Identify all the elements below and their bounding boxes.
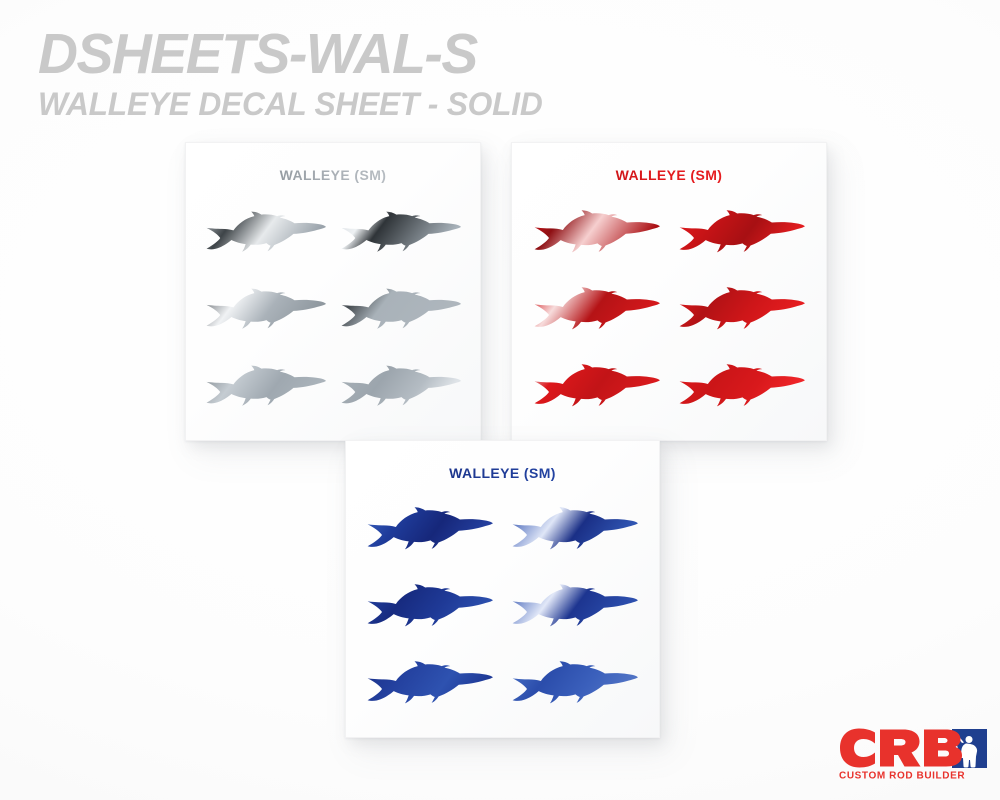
walleye-decal-icon	[533, 362, 661, 422]
decal-item[interactable]	[669, 276, 814, 353]
crb-logo-icon: CUSTOM ROD BUILDER	[838, 728, 988, 782]
page-background: DSHEETS-WAL-S WALLEYE DECAL SHEET - SOLI…	[0, 0, 1000, 800]
product-sku-title: DSHEETS-WAL-S	[38, 24, 775, 84]
decal-item[interactable]	[198, 276, 333, 353]
decal-item[interactable]	[503, 574, 648, 651]
walleye-decal-icon	[533, 285, 661, 345]
sheet-label-silver: WALLEYE (SM)	[186, 167, 480, 183]
walleye-decal-icon	[366, 659, 494, 719]
decal-item[interactable]	[669, 353, 814, 430]
decal-item[interactable]	[358, 574, 503, 651]
sheet-label-blue: WALLEYE (SM)	[346, 465, 659, 481]
walleye-decal-icon	[533, 208, 661, 268]
crb-logo[interactable]: CUSTOM ROD BUILDER	[838, 728, 988, 782]
walleye-decal-icon	[340, 286, 462, 344]
decal-item[interactable]	[524, 199, 669, 276]
sheet-label-red: WALLEYE (SM)	[512, 167, 826, 183]
decal-item[interactable]	[198, 353, 333, 430]
decal-sheet-blue[interactable]: WALLEYE (SM)	[345, 440, 660, 738]
walleye-decal-icon	[366, 582, 494, 642]
walleye-decal-icon	[678, 285, 806, 345]
walleye-decal-icon	[340, 363, 462, 421]
decal-item[interactable]	[198, 199, 333, 276]
walleye-decal-icon	[205, 286, 327, 344]
decal-item[interactable]	[358, 497, 503, 574]
walleye-decal-icon	[678, 208, 806, 268]
decal-sheet-red[interactable]: WALLEYE (SM)	[511, 142, 827, 441]
decal-item[interactable]	[333, 199, 468, 276]
decal-item[interactable]	[503, 650, 648, 727]
decal-item[interactable]	[358, 650, 503, 727]
walleye-decal-icon	[205, 209, 327, 267]
decal-item[interactable]	[524, 353, 669, 430]
decal-item[interactable]	[503, 497, 648, 574]
walleye-decal-icon	[678, 362, 806, 422]
walleye-decal-icon	[511, 659, 639, 719]
walleye-decal-icon	[205, 363, 327, 421]
decal-item[interactable]	[333, 353, 468, 430]
walleye-decal-icon	[366, 505, 494, 565]
walleye-decal-icon	[511, 505, 639, 565]
decal-grid-silver	[186, 199, 480, 430]
crb-tagline: CUSTOM ROD BUILDER	[839, 771, 965, 782]
product-heading: DSHEETS-WAL-S WALLEYE DECAL SHEET - SOLI…	[38, 24, 798, 122]
decal-item[interactable]	[333, 276, 468, 353]
walleye-decal-icon	[511, 582, 639, 642]
decal-sheet-silver[interactable]: WALLEYE (SM)	[185, 142, 481, 441]
decal-grid-red	[512, 199, 826, 430]
decal-item[interactable]	[669, 199, 814, 276]
crb-wordmark	[840, 729, 962, 768]
decal-grid-blue	[346, 497, 659, 727]
walleye-decal-icon	[340, 209, 462, 267]
decal-item[interactable]	[524, 276, 669, 353]
product-description-subtitle: WALLEYE DECAL SHEET - SOLID	[38, 86, 790, 122]
